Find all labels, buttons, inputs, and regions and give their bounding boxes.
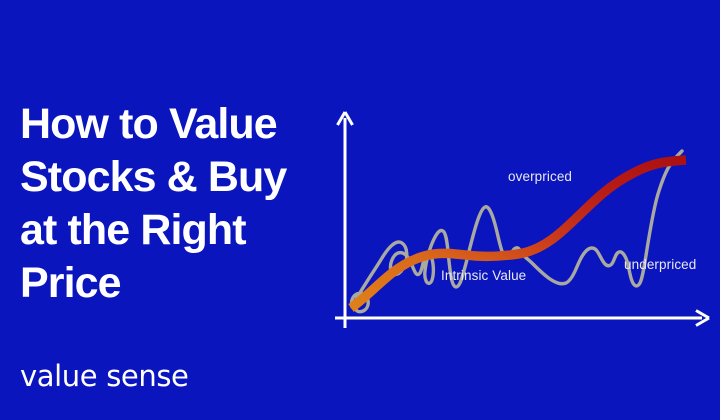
annotation-underpriced: underpriced: [624, 257, 696, 272]
annotation-intrinsic-value: Intrinsic Value: [441, 268, 526, 283]
chart-svg: [330, 95, 720, 340]
intrinsic-value-chart: overpriced Intrinsic Value underpriced: [330, 95, 720, 340]
x-axis: [335, 311, 709, 326]
y-axis: [338, 112, 353, 328]
logo-word-value: value: [20, 362, 97, 391]
page-title: How to Value Stocks & Buy at the Right P…: [20, 98, 330, 310]
annotation-overpriced: overpriced: [508, 169, 572, 184]
brand-logo: value sense: [20, 362, 189, 391]
promo-card: How to Value Stocks & Buy at the Right P…: [0, 0, 720, 420]
logo-word-sense: sense: [106, 362, 188, 391]
